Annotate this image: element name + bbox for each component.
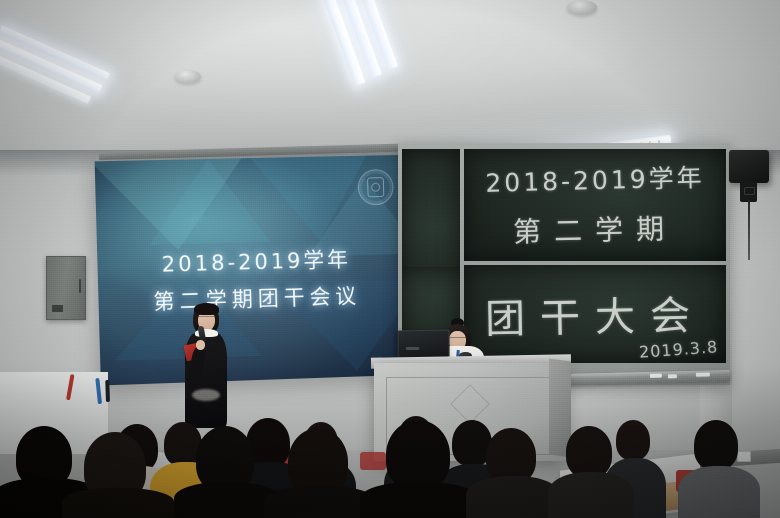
- cabinet-label-plate: [52, 305, 63, 312]
- presenter-hand: [196, 340, 205, 350]
- smoke-detector-icon: [175, 70, 201, 83]
- chalk-piece[interactable]: [668, 374, 677, 378]
- projection-screen: 2018-2019学年 第二学期团干会议: [95, 155, 417, 386]
- audience-shoulders: [466, 476, 560, 518]
- electrical-cabinet[interactable]: [46, 256, 86, 320]
- chalk-piece[interactable]: [696, 372, 710, 376]
- slide-vignette: [95, 155, 417, 386]
- chalk-piece[interactable]: [650, 374, 662, 378]
- speaker-cable: [748, 200, 750, 260]
- smoke-detector-icon: [567, 0, 597, 15]
- blackboard-lower-panel: 团干大会 2019.3.8: [464, 265, 726, 363]
- audience-row-front: [0, 422, 780, 518]
- blackboard-upper-panel: 2018-2019学年 第二学期: [464, 149, 726, 261]
- glasses-icon: [198, 316, 214, 321]
- audience-shoulders: [548, 472, 634, 518]
- classroom-photo: 2018-2019学年 第二学期团干会议 2018-2019学年 第二学期 团干…: [0, 0, 780, 518]
- blackboard-line-1: 2018-2019学年: [464, 158, 726, 201]
- projected-slide: 2018-2019学年 第二学期团干会议: [95, 155, 417, 386]
- blackboard-line-2: 第二学期: [464, 206, 726, 251]
- audience-shoulders: [360, 482, 478, 518]
- speaker-bracket: [740, 181, 757, 202]
- audience-shoulders: [62, 488, 174, 518]
- wall-speaker: [729, 150, 769, 183]
- blackboard-date: 2019.3.8: [638, 337, 718, 361]
- audience-head: [386, 420, 450, 490]
- audience-head: [566, 426, 612, 478]
- blackboard-line-3: 团干大会: [464, 283, 726, 346]
- glasses-icon: [449, 337, 466, 342]
- presenter-bangs: [194, 303, 219, 315]
